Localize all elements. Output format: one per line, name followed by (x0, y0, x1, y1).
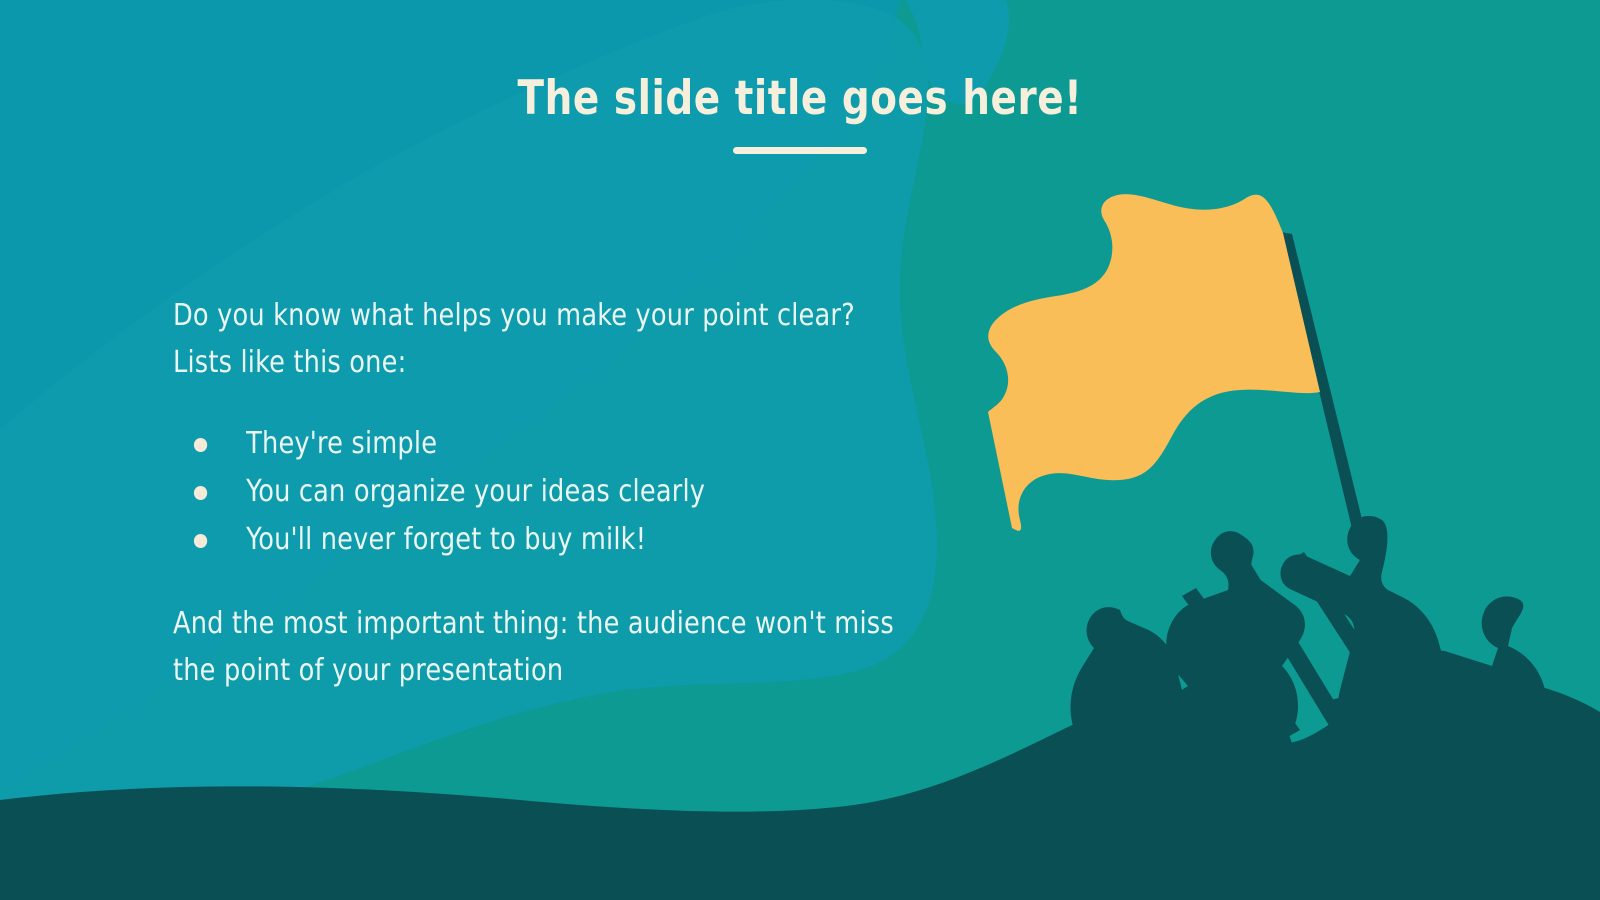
body-content: Do you know what helps you make your poi… (173, 292, 933, 694)
page-title: The slide title goes here! (64, 74, 1536, 125)
presentation-slide: The slide title goes here! Do you know w… (0, 0, 1600, 900)
list-item: You'll never forget to buy milk! (173, 516, 895, 564)
bullet-dot-icon (194, 534, 207, 548)
bullet-dot-icon (194, 438, 207, 452)
list-item: They're simple (173, 420, 895, 468)
bullet-dot-icon (194, 486, 207, 500)
list-item-label: You'll never forget to buy milk! (246, 522, 646, 557)
list-item-label: They're simple (246, 426, 437, 461)
intro-paragraph: Do you know what helps you make your poi… (173, 292, 895, 386)
bullet-list: They're simple You can organize your ide… (173, 420, 933, 564)
list-item: You can organize your ideas clearly (173, 468, 895, 516)
title-underline-rule (733, 147, 867, 154)
closing-paragraph: And the most important thing: the audien… (173, 600, 895, 694)
list-item-label: You can organize your ideas clearly (246, 474, 705, 509)
title-block: The slide title goes here! (0, 74, 1600, 154)
